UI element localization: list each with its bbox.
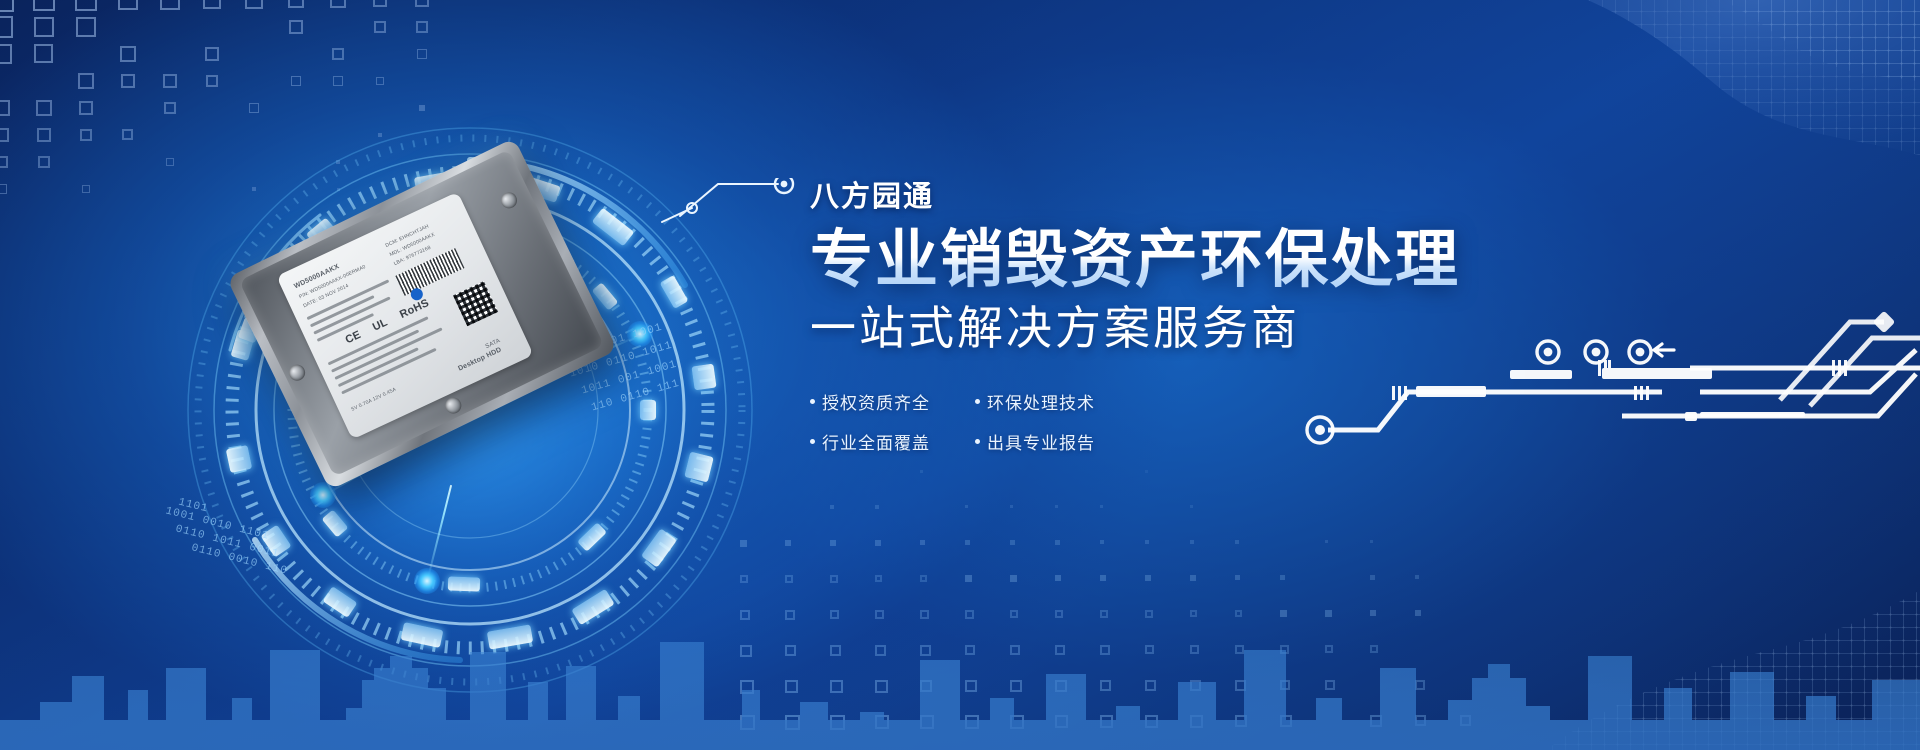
grid-square xyxy=(1010,505,1013,508)
grid-square xyxy=(34,44,53,63)
hdd-label-text: Desktop HDD xyxy=(457,346,502,372)
hdd-certification-mark: UL xyxy=(371,316,390,333)
grid-square xyxy=(0,16,13,38)
grid-square xyxy=(0,128,9,142)
feature-item: 行业全面覆盖 xyxy=(810,429,975,454)
grid-square xyxy=(78,73,94,89)
feature-item: 环保处理技术 xyxy=(975,389,1140,414)
grid-square xyxy=(1055,505,1058,508)
grid-square xyxy=(121,74,136,89)
hero-subheading: 一站式解决方案服务商 xyxy=(810,302,1570,355)
grid-square xyxy=(203,0,222,9)
hdd-certification-mark: CE xyxy=(344,329,363,347)
feature-label: 出具专业报告 xyxy=(987,429,1095,454)
grid-square xyxy=(122,129,133,140)
grid-square xyxy=(0,44,12,64)
grid-square xyxy=(376,77,385,86)
grid-square xyxy=(36,100,51,115)
grid-square xyxy=(415,0,429,7)
grid-square xyxy=(288,0,305,8)
hero-banner: 0110 1001 10011010 0110 10111011 001 100… xyxy=(0,0,1920,750)
bullet-icon xyxy=(810,399,815,404)
pointer-connector-line xyxy=(660,178,820,228)
grid-square xyxy=(1190,505,1193,508)
grid-square xyxy=(330,0,346,8)
grid-square xyxy=(120,46,137,63)
ring-segment xyxy=(691,364,716,391)
grid-square xyxy=(0,184,7,194)
feature-item: 授权资质齐全 xyxy=(810,389,975,414)
grid-square xyxy=(118,0,139,10)
grid-square xyxy=(75,0,97,11)
grid-square xyxy=(374,21,387,34)
grid-square xyxy=(875,505,879,509)
grid-square xyxy=(332,48,344,60)
hero-copy-block: 八方园通 专业销毁资产环保处理 一站式解决方案服务商 授权资质齐全环保处理技术行… xyxy=(810,182,1570,454)
grid-square xyxy=(79,101,93,115)
grid-square xyxy=(80,129,92,141)
ring-segment xyxy=(640,400,656,420)
grid-square xyxy=(289,20,304,35)
feature-item: 出具专业报告 xyxy=(975,429,1140,454)
hero-headline: 专业销毁资产环保处理 xyxy=(810,226,1570,294)
grid-square xyxy=(1100,505,1103,508)
grid-square xyxy=(76,17,96,37)
grid-square xyxy=(373,0,388,7)
grid-square xyxy=(417,49,427,59)
grid-square xyxy=(205,47,220,62)
grid-square xyxy=(0,100,10,116)
grid-square xyxy=(34,17,55,38)
grid-square xyxy=(33,0,56,11)
grid-square xyxy=(920,470,923,473)
feature-label: 行业全面覆盖 xyxy=(822,429,930,454)
grid-square xyxy=(245,0,263,9)
grid-square xyxy=(333,76,343,86)
grid-square xyxy=(291,76,302,87)
grid-square xyxy=(38,156,49,167)
feature-list: 授权资质齐全环保处理技术行业全面覆盖出具专业报告 xyxy=(810,389,1140,454)
grid-square xyxy=(82,185,90,193)
hdd-qr-code xyxy=(453,281,498,326)
bullet-icon xyxy=(810,439,815,444)
grid-square xyxy=(160,0,180,10)
feature-label: 授权资质齐全 xyxy=(822,389,930,414)
grid-square xyxy=(1145,470,1148,473)
bullet-icon xyxy=(975,439,980,444)
hdd-label-text: 5V 0.70A 12V 0.45A xyxy=(351,387,398,413)
feature-label: 环保处理技术 xyxy=(987,389,1095,414)
grid-square xyxy=(416,21,428,33)
grid-square xyxy=(830,505,834,509)
brand-name: 八方园通 xyxy=(810,182,1570,214)
grid-square xyxy=(965,505,968,508)
grid-square xyxy=(163,74,177,88)
grid-square xyxy=(0,0,14,12)
city-skyline-silhouette xyxy=(0,530,1920,750)
bullet-icon xyxy=(975,399,980,404)
grid-square xyxy=(0,156,8,168)
grid-square xyxy=(206,75,219,88)
grid-square xyxy=(37,128,50,141)
